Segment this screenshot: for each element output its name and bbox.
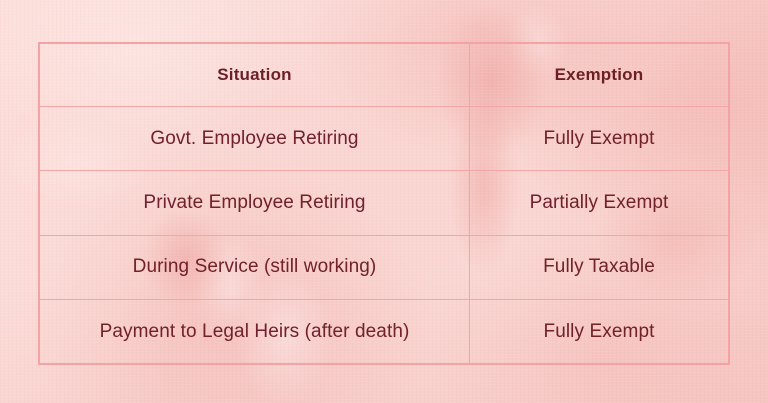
cell-situation: Govt. Employee Retiring <box>40 107 470 170</box>
table-row: Payment to Legal Heirs (after death) Ful… <box>40 300 728 363</box>
table-header-row: Situation Exemption <box>40 44 728 107</box>
cell-situation: Private Employee Retiring <box>40 171 470 234</box>
cell-situation: Payment to Legal Heirs (after death) <box>40 300 470 363</box>
cell-situation: During Service (still working) <box>40 236 470 299</box>
page-canvas: Situation Exemption Govt. Employee Retir… <box>0 0 768 403</box>
column-header-exemption: Exemption <box>470 44 728 106</box>
cell-exemption: Fully Taxable <box>470 236 728 299</box>
cell-exemption: Fully Exempt <box>470 107 728 170</box>
table-row: Govt. Employee Retiring Fully Exempt <box>40 107 728 171</box>
table-row: Private Employee Retiring Partially Exem… <box>40 171 728 235</box>
column-header-situation: Situation <box>40 44 470 106</box>
cell-exemption: Partially Exempt <box>470 171 728 234</box>
comparison-table: Situation Exemption Govt. Employee Retir… <box>38 42 730 365</box>
table-row: During Service (still working) Fully Tax… <box>40 236 728 300</box>
cell-exemption: Fully Exempt <box>470 300 728 363</box>
